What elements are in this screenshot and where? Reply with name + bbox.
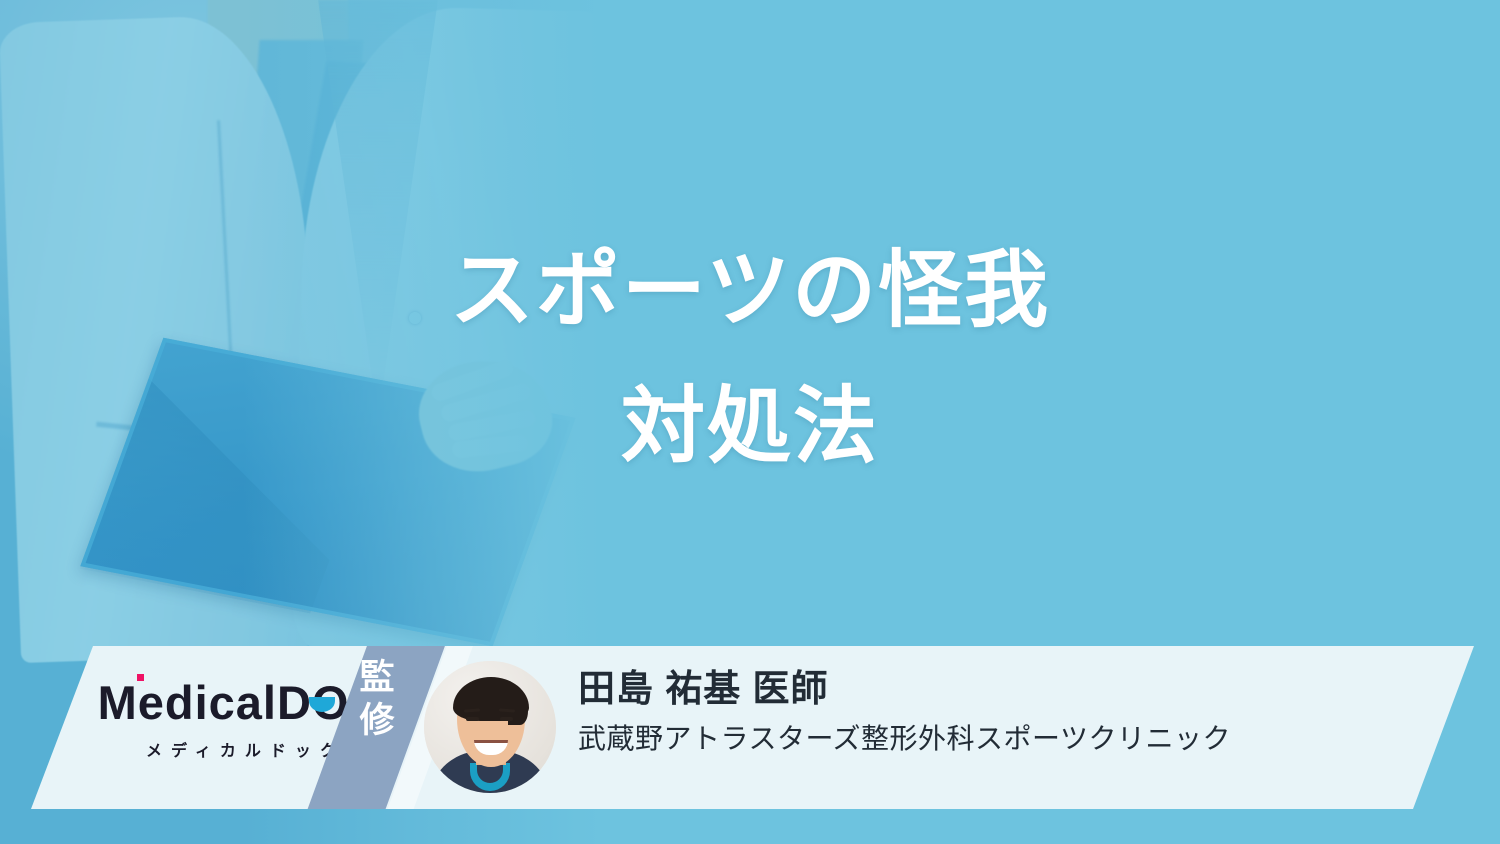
doctor-clinic: 武蔵野アトラスターズ整形外科スポーツクリニック	[578, 721, 1398, 756]
thumbnail-canvas: スポーツの怪我 対処法 Medical DOC メディカルドック	[0, 0, 1500, 844]
avatar-eye-right	[500, 717, 513, 721]
doctor-avatar	[424, 661, 556, 793]
logo-word-medical: Medical	[98, 679, 277, 726]
doctor-name: 田島 祐基 医師	[578, 666, 1398, 712]
logo-word-medical-text: Medical	[98, 676, 277, 729]
credit-bar-inner: Medical DOC メディカルドック 監修	[0, 646, 1500, 809]
credit-bar: Medical DOC メディカルドック 監修	[0, 646, 1500, 809]
avatar-eye-left	[466, 717, 479, 721]
doctor-credit: 田島 祐基 医師 武蔵野アトラスターズ整形外科スポーツクリニック	[578, 666, 1398, 756]
supervision-label: 監修	[344, 656, 410, 743]
logo-i-dot-icon	[137, 674, 144, 681]
